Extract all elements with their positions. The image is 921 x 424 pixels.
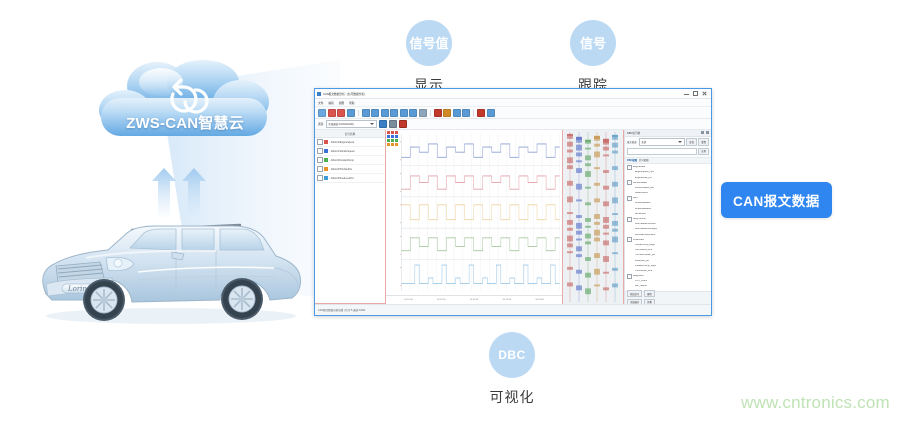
trace-event-marker bbox=[567, 165, 573, 169]
export-icon[interactable] bbox=[453, 109, 461, 117]
trace-event-marker bbox=[576, 246, 582, 251]
scene-root: ZWS-CAN智慧云 bbox=[0, 0, 921, 424]
trace-event-marker bbox=[576, 254, 582, 257]
trace-event-marker bbox=[576, 285, 582, 290]
trace-event-marker bbox=[603, 201, 609, 206]
dbc-tree: -EngineDataEngineSpeed_rpmEngineLoad_pct… bbox=[625, 164, 711, 291]
trace-event-marker bbox=[594, 136, 600, 139]
tree-node-label: EngineLoad_pct bbox=[635, 177, 652, 179]
toolbar-separator bbox=[430, 110, 431, 116]
help-icon[interactable] bbox=[487, 109, 495, 117]
measure-icon[interactable] bbox=[434, 109, 442, 117]
trace-event-marker bbox=[567, 196, 573, 202]
trace-event-marker bbox=[612, 166, 618, 170]
minimize-button[interactable] bbox=[684, 91, 689, 96]
trace-event-marker bbox=[585, 218, 591, 222]
trace-event-marker bbox=[603, 217, 609, 223]
suv-car-image: Lorinser bbox=[26, 208, 311, 326]
signal-list-header: 信号名称 bbox=[315, 130, 385, 138]
trace-event-marker bbox=[576, 152, 582, 156]
trace-event-marker bbox=[567, 142, 573, 147]
dbc-filter-value: 全部 bbox=[641, 140, 646, 144]
signal-visibility-checkbox[interactable] bbox=[317, 175, 323, 181]
tree-node-label: BodyControl bbox=[633, 218, 646, 220]
trace-event-marker bbox=[612, 229, 618, 232]
close-icon[interactable] bbox=[706, 131, 709, 134]
menu-item-1[interactable]: 编辑 bbox=[328, 101, 333, 105]
x-axis-tick: 10:12:35 bbox=[470, 299, 479, 301]
trace-event-marker bbox=[576, 137, 582, 143]
legend-swatch[interactable] bbox=[387, 143, 390, 146]
trace-event-marker bbox=[567, 251, 573, 253]
app-icon bbox=[317, 92, 321, 96]
trace-event-marker bbox=[612, 143, 618, 148]
trace-event-marker bbox=[612, 197, 618, 203]
legend-swatch[interactable] bbox=[395, 139, 398, 142]
print-icon[interactable] bbox=[462, 109, 470, 117]
signal-name: ...\Motor3\FuelLevelPct bbox=[329, 177, 383, 180]
trace-event-marker bbox=[585, 163, 591, 166]
x-axis-tick: 10:12:05 bbox=[404, 299, 413, 301]
trace-event-marker bbox=[567, 134, 573, 139]
trace-event-marker bbox=[603, 186, 609, 190]
chart-plot-area[interactable] bbox=[386, 130, 562, 295]
x-axis-tick: 10:12:50 bbox=[503, 299, 512, 301]
can-message-data-badge: CAN报文数据 bbox=[721, 182, 832, 218]
trace-event-marker bbox=[567, 243, 573, 247]
trace-event-marker bbox=[585, 155, 591, 160]
legend-swatch[interactable] bbox=[391, 143, 394, 146]
trace-event-marker bbox=[567, 220, 573, 225]
channel-select[interactable]: 全部通道 (CAN1/CAN2) bbox=[326, 120, 377, 128]
signal-color-swatch[interactable] bbox=[324, 140, 328, 144]
legend-swatch[interactable] bbox=[387, 131, 390, 134]
tree-node-label: CoolantTemp_degC bbox=[635, 244, 655, 246]
legend-swatch[interactable] bbox=[395, 131, 398, 134]
signal-color-swatch[interactable] bbox=[324, 176, 328, 180]
trace-event-marker bbox=[567, 267, 573, 270]
dbc-footer: 添加信号移除 全部展开折叠 bbox=[625, 291, 711, 304]
dbc-tab-0[interactable]: DBC视图 bbox=[627, 158, 637, 162]
trace-event-marker bbox=[585, 202, 591, 205]
trace-event-marker bbox=[603, 287, 609, 290]
save-icon[interactable] bbox=[328, 109, 336, 117]
trace-event-marker bbox=[603, 170, 609, 173]
trace-event-marker bbox=[576, 239, 582, 241]
callout-circle-label: 信号 bbox=[570, 20, 616, 66]
trace-event-marker bbox=[603, 256, 609, 262]
tree-node-label: EngineData bbox=[633, 166, 645, 168]
tree-node-label: Diagnostic bbox=[633, 275, 644, 277]
trace-event-marker bbox=[594, 183, 600, 186]
tree-node-label: MIL_Status bbox=[635, 285, 647, 287]
trace-event-marker bbox=[603, 272, 609, 274]
trace-event-marker bbox=[612, 135, 618, 140]
trace-event-marker bbox=[594, 238, 600, 242]
toolbar-separator bbox=[358, 110, 359, 116]
menubar: 文件编辑视图帮助 bbox=[315, 99, 711, 107]
fit-icon[interactable] bbox=[419, 109, 427, 117]
signal-name: ...\Motor2\CoolantTemp bbox=[329, 159, 383, 162]
tree-node-label: FuelLevel_pct bbox=[635, 260, 649, 262]
chart-legend bbox=[387, 131, 398, 146]
signal-visibility-checkbox[interactable] bbox=[317, 148, 323, 154]
dbc-search-input[interactable] bbox=[627, 148, 697, 156]
dbc-filter-area: 报文筛选: 全部 查找 重置 应用 bbox=[625, 137, 711, 158]
tree-node-label: TurboBoost_kPa bbox=[635, 270, 652, 272]
trace-event-marker bbox=[603, 225, 609, 229]
legend-swatch-column bbox=[395, 131, 398, 146]
signal-list-rows: ...\Motor1\EngineSpeed...\Motor1\Vehicle… bbox=[315, 138, 385, 303]
tree-node-label: ThrottlePosition_pct bbox=[635, 254, 655, 256]
tree-expander-icon[interactable]: - bbox=[627, 237, 632, 242]
dbc-apply-button[interactable]: 应用 bbox=[698, 148, 709, 156]
trace-event-marker bbox=[585, 171, 591, 177]
channel-select-value: 全部通道 (CAN1/CAN2) bbox=[328, 122, 353, 126]
trace-event-marker bbox=[567, 228, 573, 231]
trace-event-marker bbox=[576, 184, 582, 190]
signal-visibility-checkbox[interactable] bbox=[317, 157, 323, 163]
legend-swatch[interactable] bbox=[387, 135, 390, 138]
trace-event-marker bbox=[594, 152, 600, 158]
trace-event-marker bbox=[585, 257, 591, 261]
trace-event-marker bbox=[567, 181, 573, 186]
status-bar: CAN报文数据分析就绪 | 信号:5 通道:CAN1 bbox=[315, 304, 711, 315]
signal-name: ...\Motor1\VehicleSpeed bbox=[329, 150, 383, 153]
scissors-icon[interactable] bbox=[389, 120, 397, 128]
tree-node-label: IntakeAirTemp_degC bbox=[635, 265, 656, 267]
maximize-button[interactable] bbox=[693, 91, 698, 96]
trace-event-marker bbox=[567, 282, 573, 286]
signal-visibility-checkbox[interactable] bbox=[317, 139, 323, 145]
trace-event-marker bbox=[576, 231, 582, 235]
tree-expander-icon[interactable]: - bbox=[627, 274, 632, 279]
tree-node-label: GearPosition bbox=[635, 192, 648, 194]
signal-row[interactable]: ...\Motor3\FuelLevelPct bbox=[315, 174, 385, 183]
tree-node-label: ABSActive bbox=[635, 213, 646, 215]
trace-event-marker bbox=[594, 214, 600, 219]
trash-icon[interactable] bbox=[399, 120, 407, 128]
window-body: 信号名称 ...\Motor1\EngineSpeed...\Motor1\Ve… bbox=[315, 130, 711, 304]
trace-event-marker bbox=[576, 160, 582, 162]
tree-node-label: DoorStatusFrontLeft bbox=[635, 223, 656, 225]
play-icon[interactable] bbox=[379, 120, 387, 128]
legend-swatch[interactable] bbox=[391, 131, 394, 134]
cloud-graphic: ZWS-CAN智慧云 bbox=[95, 60, 275, 155]
trace-event-marker bbox=[576, 168, 582, 173]
trace-event-marker bbox=[594, 222, 600, 225]
tree-expander-icon[interactable]: - bbox=[627, 165, 632, 170]
channel-label: 通道: bbox=[318, 122, 324, 126]
signal-list-panel: 信号名称 ...\Motor1\EngineSpeed...\Motor1\Ve… bbox=[315, 130, 386, 304]
table-icon[interactable] bbox=[371, 109, 379, 117]
trace-event-marker bbox=[585, 148, 591, 150]
trace-event-marker bbox=[603, 240, 609, 245]
cursor-icon[interactable] bbox=[443, 109, 451, 117]
dbc-tree-panel: DBC信号树 报文筛选: 全部 查找 重置 bbox=[624, 130, 711, 304]
stop-icon[interactable] bbox=[347, 109, 355, 117]
close-button[interactable] bbox=[702, 91, 707, 96]
trace-event-marker bbox=[612, 237, 618, 243]
x-axis-tick: 10:12:20 bbox=[437, 299, 446, 301]
trace-event-marker bbox=[585, 187, 591, 189]
trace-event-marker bbox=[594, 230, 600, 236]
tree-expander-icon[interactable]: - bbox=[627, 196, 632, 201]
pin-icon[interactable] bbox=[701, 131, 704, 134]
trace-event-marker bbox=[585, 241, 591, 244]
trace-event-marker bbox=[576, 145, 582, 151]
callout-signal-trace: 信号 跟踪 bbox=[570, 20, 616, 95]
legend-swatch[interactable] bbox=[395, 143, 398, 146]
trace-event-marker bbox=[612, 182, 618, 187]
signal-color-swatch[interactable] bbox=[324, 149, 328, 153]
trace-event-marker bbox=[594, 144, 600, 147]
trace-event-marker bbox=[576, 223, 582, 229]
dbc-reset-button[interactable]: 重置 bbox=[698, 138, 709, 146]
dbc-footer-button-0[interactable]: 添加信号 bbox=[627, 290, 642, 297]
signal-row[interactable]: ...\Motor2\ThrottlePos bbox=[315, 165, 385, 174]
legend-swatch[interactable] bbox=[391, 139, 394, 142]
dbc-panel-title: DBC信号树 bbox=[625, 130, 711, 137]
x-axis-tick: 10:13:05 bbox=[535, 299, 544, 301]
callout-signal-value: 信号值 显示 bbox=[406, 20, 452, 95]
trace-event-marker bbox=[594, 284, 600, 286]
toolbar-separator bbox=[473, 110, 474, 116]
chart-x-axis: 10:12:0510:12:2010:12:3510:12:5010:13:05 bbox=[386, 295, 562, 304]
record-icon[interactable] bbox=[337, 109, 345, 117]
legend-swatch[interactable] bbox=[391, 135, 394, 138]
trace-background bbox=[563, 130, 623, 304]
trace-event-marker bbox=[585, 234, 591, 239]
signal-trace-panel[interactable] bbox=[563, 130, 624, 304]
trace-event-marker bbox=[603, 233, 609, 235]
tree-node-label: ABS bbox=[633, 197, 638, 199]
callout-circle-label: DBC bbox=[489, 332, 535, 378]
tree-node-label: WindowPositionLeft bbox=[635, 234, 655, 236]
tree-node-label: VehicleSpeed_kph bbox=[635, 187, 654, 189]
signal-row[interactable]: ...\Motor1\VehicleSpeed bbox=[315, 147, 385, 156]
trace-event-marker bbox=[576, 270, 582, 274]
watermark: www.cntronics.com bbox=[741, 393, 890, 413]
tree-node-label: OilPressure_kPa bbox=[635, 249, 652, 251]
chart-icon[interactable] bbox=[381, 109, 389, 117]
menu-item-3[interactable]: 帮助 bbox=[349, 101, 354, 105]
window-titlebar: CAN报文数据分析 - [信号数据分析] bbox=[315, 89, 711, 99]
zoom-in-icon[interactable] bbox=[400, 109, 408, 117]
tree-node-label: Powertrain bbox=[633, 239, 644, 241]
trace-event-marker bbox=[594, 198, 600, 202]
trace-event-marker bbox=[567, 157, 573, 163]
signal-color-swatch[interactable] bbox=[324, 167, 328, 171]
window-title: CAN报文数据分析 - [信号数据分析] bbox=[323, 92, 365, 96]
settings-icon[interactable] bbox=[477, 109, 485, 117]
menu-item-0[interactable]: 文件 bbox=[318, 101, 323, 105]
open-file-icon[interactable] bbox=[318, 109, 326, 117]
legend-swatch-column bbox=[387, 131, 390, 146]
trace-event-marker bbox=[612, 151, 618, 154]
chevron-down-icon bbox=[370, 123, 374, 125]
dbc-filter-select[interactable]: 全部 bbox=[639, 138, 685, 146]
trace-event-marker bbox=[576, 199, 582, 201]
tree-node-label: DoorStatusFrontRight bbox=[635, 228, 657, 230]
tree-expander-icon[interactable]: - bbox=[627, 217, 632, 222]
trace-event-marker bbox=[585, 273, 591, 278]
tree-node-label: WheelSpeedFL bbox=[635, 202, 651, 204]
trace-event-marker bbox=[612, 252, 618, 254]
waveform-chart-panel: 10:12:0510:12:2010:12:3510:12:5010:13:05 bbox=[386, 130, 563, 304]
dbc-footer-button-1[interactable]: 移除 bbox=[644, 290, 655, 297]
chevron-down-icon bbox=[678, 141, 682, 143]
grid-icon[interactable] bbox=[362, 109, 370, 117]
tree-node-label: VehicleStatus bbox=[633, 182, 647, 184]
legend-swatch[interactable] bbox=[395, 135, 398, 138]
tree-expander-icon[interactable]: - bbox=[627, 180, 632, 185]
callout-dbc: DBC 可视化 bbox=[489, 332, 535, 407]
signal-row[interactable]: ...\Motor2\CoolantTemp bbox=[315, 156, 385, 165]
trace-event-marker bbox=[567, 212, 573, 214]
signal-color-swatch[interactable] bbox=[324, 158, 328, 162]
signal-name: ...\Motor2\ThrottlePos bbox=[329, 168, 383, 171]
signal-name: ...\Motor1\EngineSpeed bbox=[329, 141, 383, 144]
application-window: CAN报文数据分析 - [信号数据分析] 文件编辑视图帮助 通道: 全部通道 (… bbox=[314, 88, 712, 316]
callout-caption: 可视化 bbox=[489, 387, 535, 407]
dbc-panel-title-text: DBC信号树 bbox=[627, 131, 640, 135]
dbc-search-button[interactable]: 查找 bbox=[686, 138, 697, 146]
trace-event-marker bbox=[612, 283, 618, 287]
trace-event-marker bbox=[594, 167, 600, 169]
trace-event-marker bbox=[612, 221, 618, 226]
trace-event-marker bbox=[567, 236, 573, 242]
trace-event-marker bbox=[585, 288, 591, 294]
callout-circle-label: 信号值 bbox=[406, 20, 452, 66]
trace-event-marker bbox=[567, 150, 573, 153]
channel-toolbar: 通道: 全部通道 (CAN1/CAN2) bbox=[315, 119, 711, 130]
tree-node-label: EngineSpeed_rpm bbox=[635, 171, 654, 173]
trace-event-marker bbox=[576, 215, 582, 218]
trace-event-marker bbox=[603, 154, 609, 156]
dbc-tab-1[interactable]: 信号视图 bbox=[639, 158, 649, 162]
zoom-out-icon[interactable] bbox=[409, 109, 417, 117]
trace-event-marker bbox=[594, 253, 600, 258]
dbc-filter-label: 报文筛选: bbox=[627, 140, 637, 144]
trace-event-marker bbox=[612, 268, 618, 271]
trace-event-marker bbox=[594, 269, 600, 275]
tree-node-label: WheelSpeedFR bbox=[635, 208, 651, 210]
filter-icon[interactable] bbox=[390, 109, 398, 117]
trace-event-marker bbox=[612, 213, 618, 215]
trace-event-marker bbox=[603, 139, 609, 143]
legend-swatch-column bbox=[391, 131, 394, 146]
trace-event-marker bbox=[585, 226, 591, 228]
signal-row[interactable]: ...\Motor1\EngineSpeed bbox=[315, 138, 385, 147]
legend-swatch[interactable] bbox=[387, 139, 390, 142]
trace-event-marker bbox=[603, 147, 609, 151]
menu-item-2[interactable]: 视图 bbox=[339, 101, 344, 105]
signal-visibility-checkbox[interactable] bbox=[317, 166, 323, 172]
main-toolbar bbox=[315, 107, 711, 119]
tree-node-label: DTC_Count bbox=[635, 280, 647, 282]
trace-event-marker bbox=[585, 140, 591, 142]
